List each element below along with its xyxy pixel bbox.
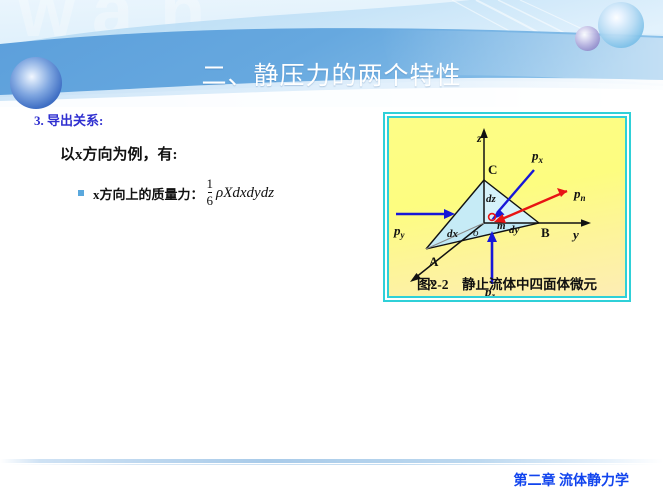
label-force-px: px: [531, 148, 544, 165]
label-axis-z: z: [476, 131, 482, 145]
footer-divider-thin: [8, 464, 655, 465]
y-axis-arrowhead: [581, 219, 591, 226]
label-vertex-A: A: [429, 254, 439, 269]
fraction-denominator: 6: [207, 194, 214, 208]
footer-divider: [0, 459, 663, 463]
label-dy: dy: [509, 224, 520, 236]
label-point-m: m: [497, 220, 506, 232]
fraction-numerator: 1: [207, 177, 214, 191]
label-dz: dz: [486, 193, 497, 205]
label-force-pn: pn: [573, 186, 586, 203]
decorative-sphere-large: [598, 2, 644, 48]
slide-canvas: w a n: [0, 0, 663, 497]
mass-force-label: x方向上的质量力：: [93, 184, 204, 203]
label-vertex-C: C: [488, 162, 497, 177]
decorative-sphere-small: [575, 26, 600, 51]
figure-2-2-frame: z y x C A B o m dz dx dy px py: [383, 112, 631, 302]
label-vertex-B: B: [541, 225, 550, 240]
square-bullet-icon: [78, 190, 84, 196]
footer-chapter-label: 第二章 流体静力学: [0, 470, 647, 490]
example-line-text: 以x方向为例，有:: [60, 147, 178, 163]
fraction-one-sixth: 1 6: [207, 177, 214, 207]
label-force-py: py: [393, 223, 406, 240]
label-axis-y: y: [571, 227, 579, 242]
mass-force-bullet-line: x方向上的质量力： 1 6 ρXdxdydz: [78, 178, 274, 208]
formula-expression: ρXdxdydz: [216, 185, 274, 202]
force-arrow-py: [396, 209, 455, 219]
section-heading: 3. 导出关系:: [34, 110, 103, 129]
figure-inner-border: z y x C A B o m dz dx dy px py: [385, 114, 629, 300]
figure-canvas: z y x C A B o m dz dx dy px py: [389, 118, 625, 296]
figure-caption: 图2-2 静止流体中四面体微元: [389, 273, 625, 293]
label-dx: dx: [447, 228, 459, 240]
slide-title: 二、静压力的两个特性: [0, 56, 663, 92]
example-line: 以x方向为例，有:: [60, 143, 178, 164]
label-vertex-o: o: [473, 227, 479, 239]
